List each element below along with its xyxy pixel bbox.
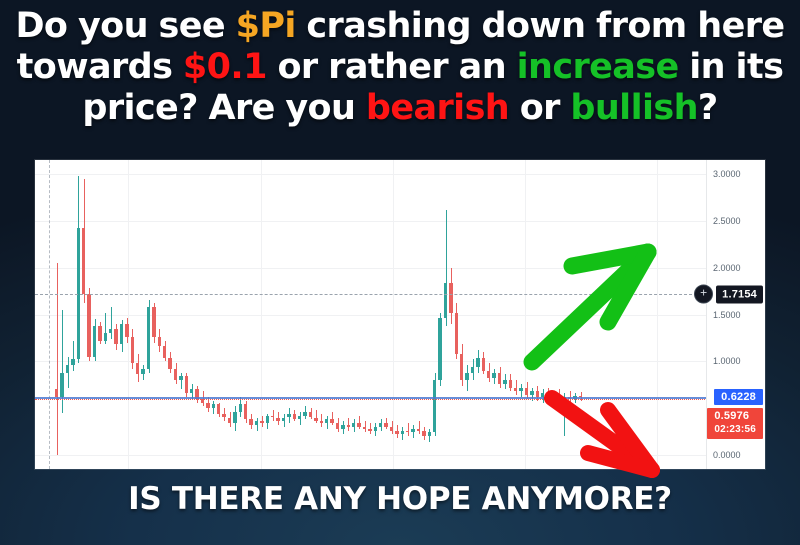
- headline-seg-5: in its: [679, 47, 784, 87]
- gridline-h: [35, 174, 707, 175]
- footer-caption: IS THERE ANY HOPE ANYMORE?: [0, 481, 800, 517]
- price-tick-label: 1.0000: [713, 356, 741, 366]
- gridline-h: [35, 268, 707, 269]
- last-price-badge[interactable]: 0.6228: [714, 389, 763, 405]
- headline-seg-6: price? Are you: [82, 88, 366, 128]
- price-tick-label: 3.0000: [713, 169, 741, 179]
- alert-price-line[interactable]: [35, 294, 707, 295]
- headline-text: Do you see $Pi crashing down from here t…: [0, 6, 800, 129]
- price-tick-label: 2.5000: [713, 216, 741, 226]
- price-tick-label: 0.0000: [713, 450, 741, 460]
- gridline-h: [35, 221, 707, 222]
- price-tick-label: 2.0000: [713, 263, 741, 273]
- gridline-v: [657, 160, 658, 469]
- add-alert-plus-icon[interactable]: +: [694, 285, 713, 304]
- headline-seg-7: or: [509, 88, 570, 128]
- gridline-v: [525, 160, 526, 469]
- headline-target-price: $0.1: [183, 47, 267, 87]
- headline-ticker: $Pi: [236, 6, 296, 46]
- alert-price-badge[interactable]: + 1.7154: [694, 285, 763, 304]
- headline-seg-2: crashing down from here: [296, 6, 785, 46]
- gridline-h: [35, 315, 707, 316]
- price-tick-label: 1.5000: [713, 310, 741, 320]
- headline-seg-8: ?: [698, 88, 718, 128]
- headline-seg-1: Do you see: [15, 6, 235, 46]
- price-chart[interactable]: @pinetworkmembers 3.00002.50002.00001.50…: [35, 160, 765, 469]
- countdown-price-line: [35, 399, 707, 400]
- countdown-price-value: 0.5976: [714, 410, 749, 422]
- gridline-v: [393, 160, 394, 469]
- headline-bearish: bearish: [366, 88, 509, 128]
- meme-poster: Do you see $Pi crashing down from here t…: [0, 0, 800, 545]
- gridline-h: [35, 455, 707, 456]
- price-scale[interactable]: 3.00002.50002.00001.50001.00000.0000 + 1…: [706, 160, 765, 469]
- headline-seg-4: or rather an: [267, 47, 517, 87]
- gridline-v: [128, 160, 129, 469]
- session-divider-line: [49, 160, 50, 469]
- headline-bullish: bullish: [570, 88, 698, 128]
- headline-seg-3: towards: [17, 47, 183, 87]
- gridline-h: [35, 361, 707, 362]
- headline-increase: increase: [517, 47, 679, 87]
- countdown-price-badge[interactable]: 0.5976 02:23:56: [707, 408, 763, 439]
- alert-price-value: 1.7154: [716, 285, 763, 303]
- chart-plot-area[interactable]: @pinetworkmembers: [35, 160, 707, 469]
- countdown-timer: 02:23:56: [714, 423, 756, 436]
